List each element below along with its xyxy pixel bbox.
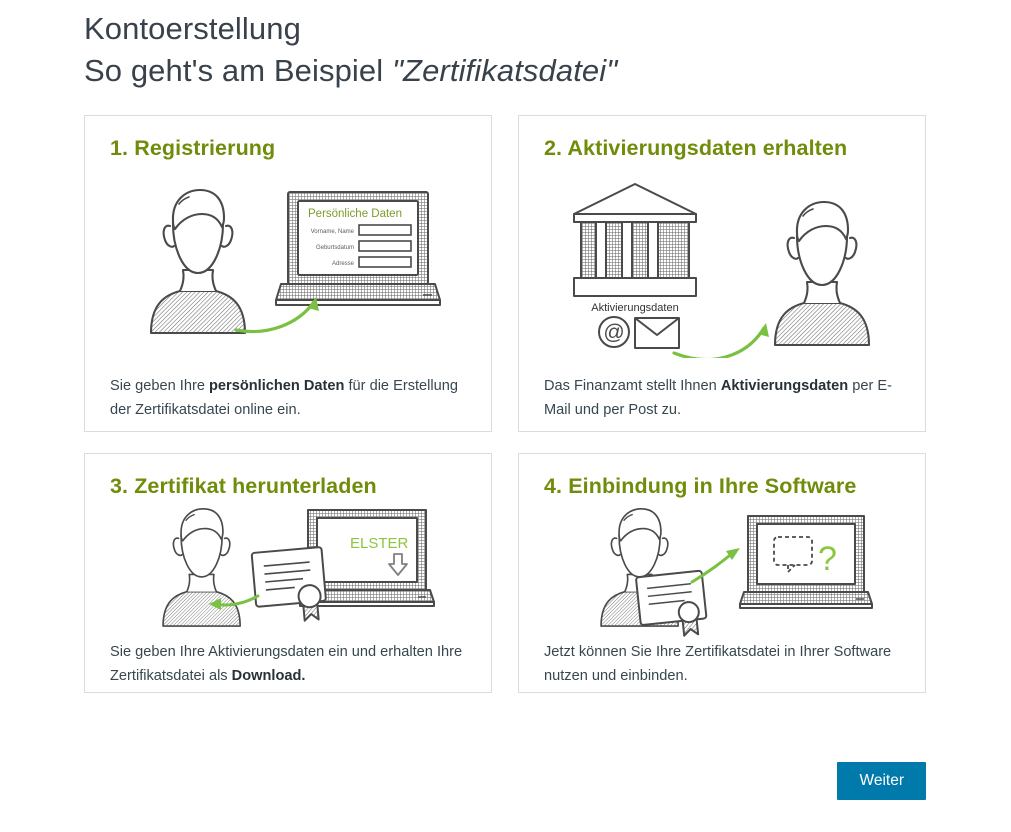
person-certificate-monitor-download-icon: ELSTER — [118, 504, 458, 639]
plain-text: Das Finanzamt stellt Ihnen — [544, 378, 721, 394]
building-caption: Aktivierungsdaten — [591, 302, 678, 314]
step-card-2-title: 2. Aktivierungsdaten erhalten — [544, 136, 847, 161]
step-card-3: 3. Zertifikat herunterladen — [84, 453, 492, 693]
step-card-1: 1. Registrierung — [84, 115, 492, 432]
step-card-3-title: 3. Zertifikat herunterladen — [110, 474, 377, 499]
page-title: Kontoerstellung So geht's am Beispiel "Z… — [84, 8, 944, 92]
steps-grid: 1. Registrierung — [84, 115, 926, 693]
at-symbol-icon: @ — [599, 317, 629, 347]
page-root: Kontoerstellung So geht's am Beispiel "Z… — [0, 0, 1011, 832]
step-card-2-description: Das Finanzamt stellt Ihnen Aktivierungsd… — [544, 374, 907, 422]
plain-text: Sie geben Ihre — [110, 378, 209, 394]
page-title-line-1: Kontoerstellung — [84, 8, 944, 50]
flow-arrow-icon — [692, 548, 740, 582]
tax-office-building-email-person-icon: Aktivierungsdaten @ — [552, 178, 892, 358]
person-and-laptop-with-form-icon: Persönliche Daten Vorname, Name Geburtsd… — [118, 178, 458, 358]
person-certificate-to-laptop-placeholder-icon: ? — [552, 504, 892, 639]
step-card-4-title: 4. Einbindung in Ihre Software — [544, 474, 856, 499]
monitor-screen-text: ELSTER — [350, 535, 409, 552]
step-card-1-description: Sie geben Ihre persönlichen Daten für di… — [110, 374, 473, 422]
certificate-icon — [252, 547, 328, 625]
step-card-4-illustration: ? — [519, 504, 925, 644]
laptop-screen-title: Persönliche Daten — [308, 208, 402, 220]
step-card-3-description: Sie geben Ihre Aktivierungsdaten ein und… — [110, 640, 473, 688]
footer-actions: Weiter — [84, 762, 926, 802]
next-button[interactable]: Weiter — [837, 762, 926, 800]
laptop-field-label-1: Vorname, Name — [311, 229, 355, 235]
step-card-1-illustration: Persönliche Daten Vorname, Name Geburtsd… — [85, 178, 491, 363]
step-card-2: 2. Aktivierungsdaten erhalten — [518, 115, 926, 432]
emphasis-text: persönlichen Daten — [209, 378, 344, 394]
laptop-field-label-2: Geburtsdatum — [316, 245, 354, 251]
page-title-line-2-emphasis: "Zertifikatsdatei" — [392, 53, 617, 88]
question-mark-label: ? — [818, 540, 837, 578]
emphasis-text: Aktivierungsdaten — [721, 378, 848, 394]
emphasis-text: Download. — [232, 668, 306, 684]
step-card-2-illustration: Aktivierungsdaten @ — [519, 178, 925, 363]
step-card-4: 4. Einbindung in Ihre Software — [518, 453, 926, 693]
page-title-line-2: So geht's am Beispiel "Zertifikatsdatei" — [84, 50, 944, 92]
step-card-1-title: 1. Registrierung — [110, 136, 275, 161]
flow-arrow-icon — [674, 323, 769, 358]
envelope-icon — [635, 318, 679, 348]
plain-text: Jetzt können Sie Ihre Zertifikatsdatei i… — [544, 644, 891, 684]
certificate-icon — [636, 571, 708, 639]
svg-text:@: @ — [603, 321, 624, 344]
laptop-field-label-3: Adresse — [332, 261, 355, 267]
step-card-4-description: Jetzt können Sie Ihre Zertifikatsdatei i… — [544, 640, 907, 688]
page-title-line-2-prefix: So geht's am Beispiel — [84, 53, 392, 88]
step-card-3-illustration: ELSTER — [85, 504, 491, 644]
